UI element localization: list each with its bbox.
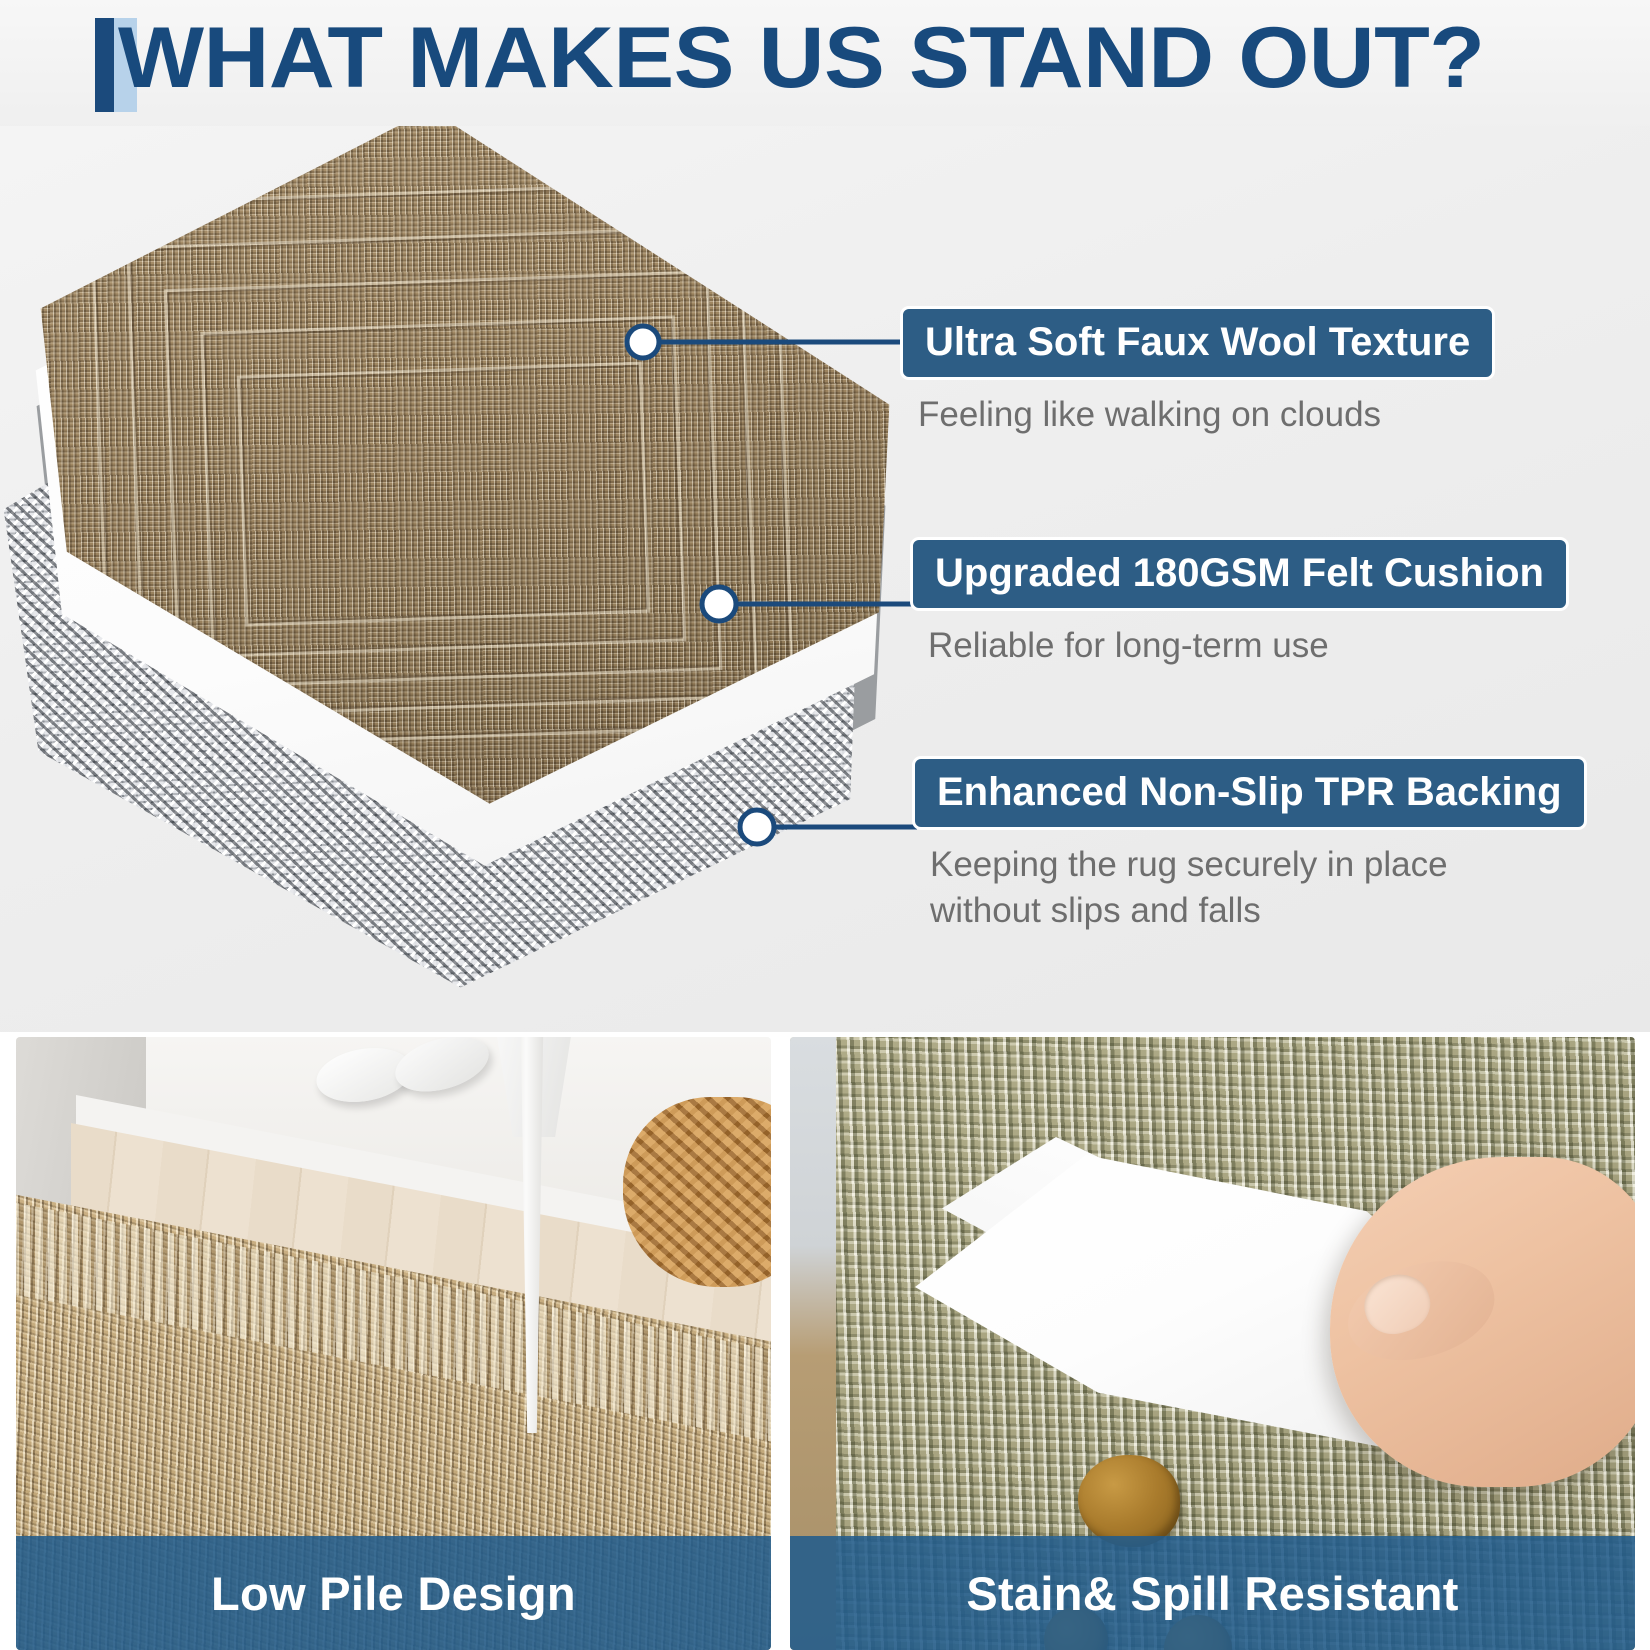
liquid-droplet <box>1078 1455 1180 1547</box>
connector-dot-2 <box>702 587 736 621</box>
title-accent-bar <box>95 18 114 112</box>
callout-subtitle-1: Feeling like walking on clouds <box>918 393 1495 437</box>
panel-caption-right: Stain& Spill Resistant <box>790 1536 1635 1650</box>
connector-dot-3 <box>740 810 774 844</box>
callout-subtitle-3-line-2: without slips and falls <box>930 889 1587 933</box>
callout-subtitle-3-line-1: Keeping the rug securely in place <box>930 843 1587 887</box>
callout-faux-wool: Ultra Soft Faux Wool Texture Feeling lik… <box>900 306 1495 437</box>
photo-panel-stain-resistant: Stain& Spill Resistant <box>790 1037 1635 1650</box>
photo-panel-low-pile: Low Pile Design <box>16 1037 771 1650</box>
callout-badge-1: Ultra Soft Faux Wool Texture <box>900 306 1495 380</box>
callout-badge-2: Upgraded 180GSM Felt Cushion <box>910 537 1569 611</box>
panel-caption-left-text: Low Pile Design <box>211 1566 576 1621</box>
panel-caption-left: Low Pile Design <box>16 1536 771 1650</box>
callout-tpr-backing: Enhanced Non-Slip TPR Backing Keeping th… <box>912 756 1587 933</box>
callout-subtitle-2: Reliable for long-term use <box>928 624 1569 668</box>
feature-photo-panels: Low Pile Design Stain& Spill Resistant <box>0 1037 1650 1650</box>
page-title: WHAT MAKES US STAND OUT? <box>118 9 1484 108</box>
panel-caption-right-text: Stain& Spill Resistant <box>966 1566 1458 1621</box>
connector-dot-1 <box>627 326 659 358</box>
callout-badge-3: Enhanced Non-Slip TPR Backing <box>912 756 1587 830</box>
callout-felt-cushion: Upgraded 180GSM Felt Cushion Reliable fo… <box>910 537 1569 668</box>
page-header: WHAT MAKES US STAND OUT? <box>0 0 1650 132</box>
